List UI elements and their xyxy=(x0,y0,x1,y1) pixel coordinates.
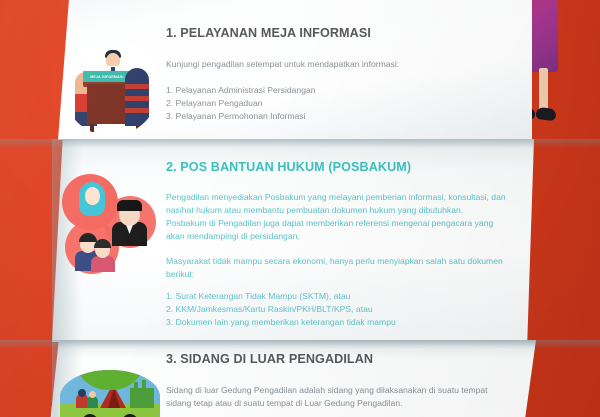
section-1-heading: 1. PELAYANAN MEJA INFORMASI xyxy=(166,26,506,40)
section-1-list: 1. Pelayanan Administrasi Persidangan 2.… xyxy=(166,84,506,123)
section-1: 1. PELAYANAN MEJA INFORMASI Kunjungi pen… xyxy=(166,26,506,124)
visitor-right-stripe-2 xyxy=(125,96,149,101)
section-2: 2. POS BANTUAN HUKUM (POSBAKUM) Pengadil… xyxy=(166,160,506,329)
section-2-lead: Pengadilan menyediakan Posbakum yang mel… xyxy=(166,191,506,243)
three-people-circles-illustration xyxy=(57,172,161,276)
brochure-photo: MEJA INFORMASI xyxy=(0,0,600,417)
information-desk-illustration: MEJA INFORMASI xyxy=(63,40,159,136)
desk-leg-left-shape xyxy=(90,124,94,132)
child-two-body-shape xyxy=(91,256,115,272)
section-2-heading: 2. POS BANTUAN HUKUM (POSBAKUM) xyxy=(166,160,506,174)
building-tower-1 xyxy=(134,382,138,390)
section-2-lead-secondary: Masyarakat tidak mampu secara ekonomi, h… xyxy=(166,255,506,281)
person-green-head-shape xyxy=(89,391,96,398)
list-item: 3. Pelayanan Permohonan Informasi xyxy=(166,110,506,123)
information-desk-sign: MEJA INFORMASI xyxy=(83,71,131,82)
section-3-lead: Sidang di luar Gedung Pengadilan adalah … xyxy=(166,384,506,410)
list-item: 3. Dokumen lain yang memberikan keterang… xyxy=(166,316,506,329)
information-desk-sign-label: MEJA INFORMASI xyxy=(90,75,123,79)
list-item: 1. Surat Keterangan Tidak Mampu (SKTM), … xyxy=(166,290,506,303)
list-item: 1. Pelayanan Administrasi Persidangan xyxy=(166,84,506,97)
list-item: 2. KKM/Jamkesmas/Kartu Raskin/PKH/BLT/KP… xyxy=(166,303,506,316)
outdoor-court-session-illustration xyxy=(60,370,160,417)
visitor-right-stripe-1 xyxy=(125,84,149,89)
right-shoe-shape xyxy=(535,107,556,121)
section-3: 3. SIDANG DI LUAR PENGADILAN Sidang di l… xyxy=(166,352,506,410)
section-1-lead: Kunjungi pengadilan setempat untuk menda… xyxy=(166,58,506,71)
section-2-list: 1. Surat Keterangan Tidak Mampu (SKTM), … xyxy=(166,290,506,329)
visitor-right-stripe-3 xyxy=(125,108,149,113)
list-item: 2. Pelayanan Pengaduan xyxy=(166,97,506,110)
building-tower-2 xyxy=(142,380,146,390)
building-shape xyxy=(130,388,154,408)
woman-face-shape xyxy=(85,187,100,205)
peci-hat-shape xyxy=(117,200,142,211)
section-3-heading: 3. SIDANG DI LUAR PENGADILAN xyxy=(166,352,506,366)
person-red-head-shape xyxy=(78,389,86,397)
